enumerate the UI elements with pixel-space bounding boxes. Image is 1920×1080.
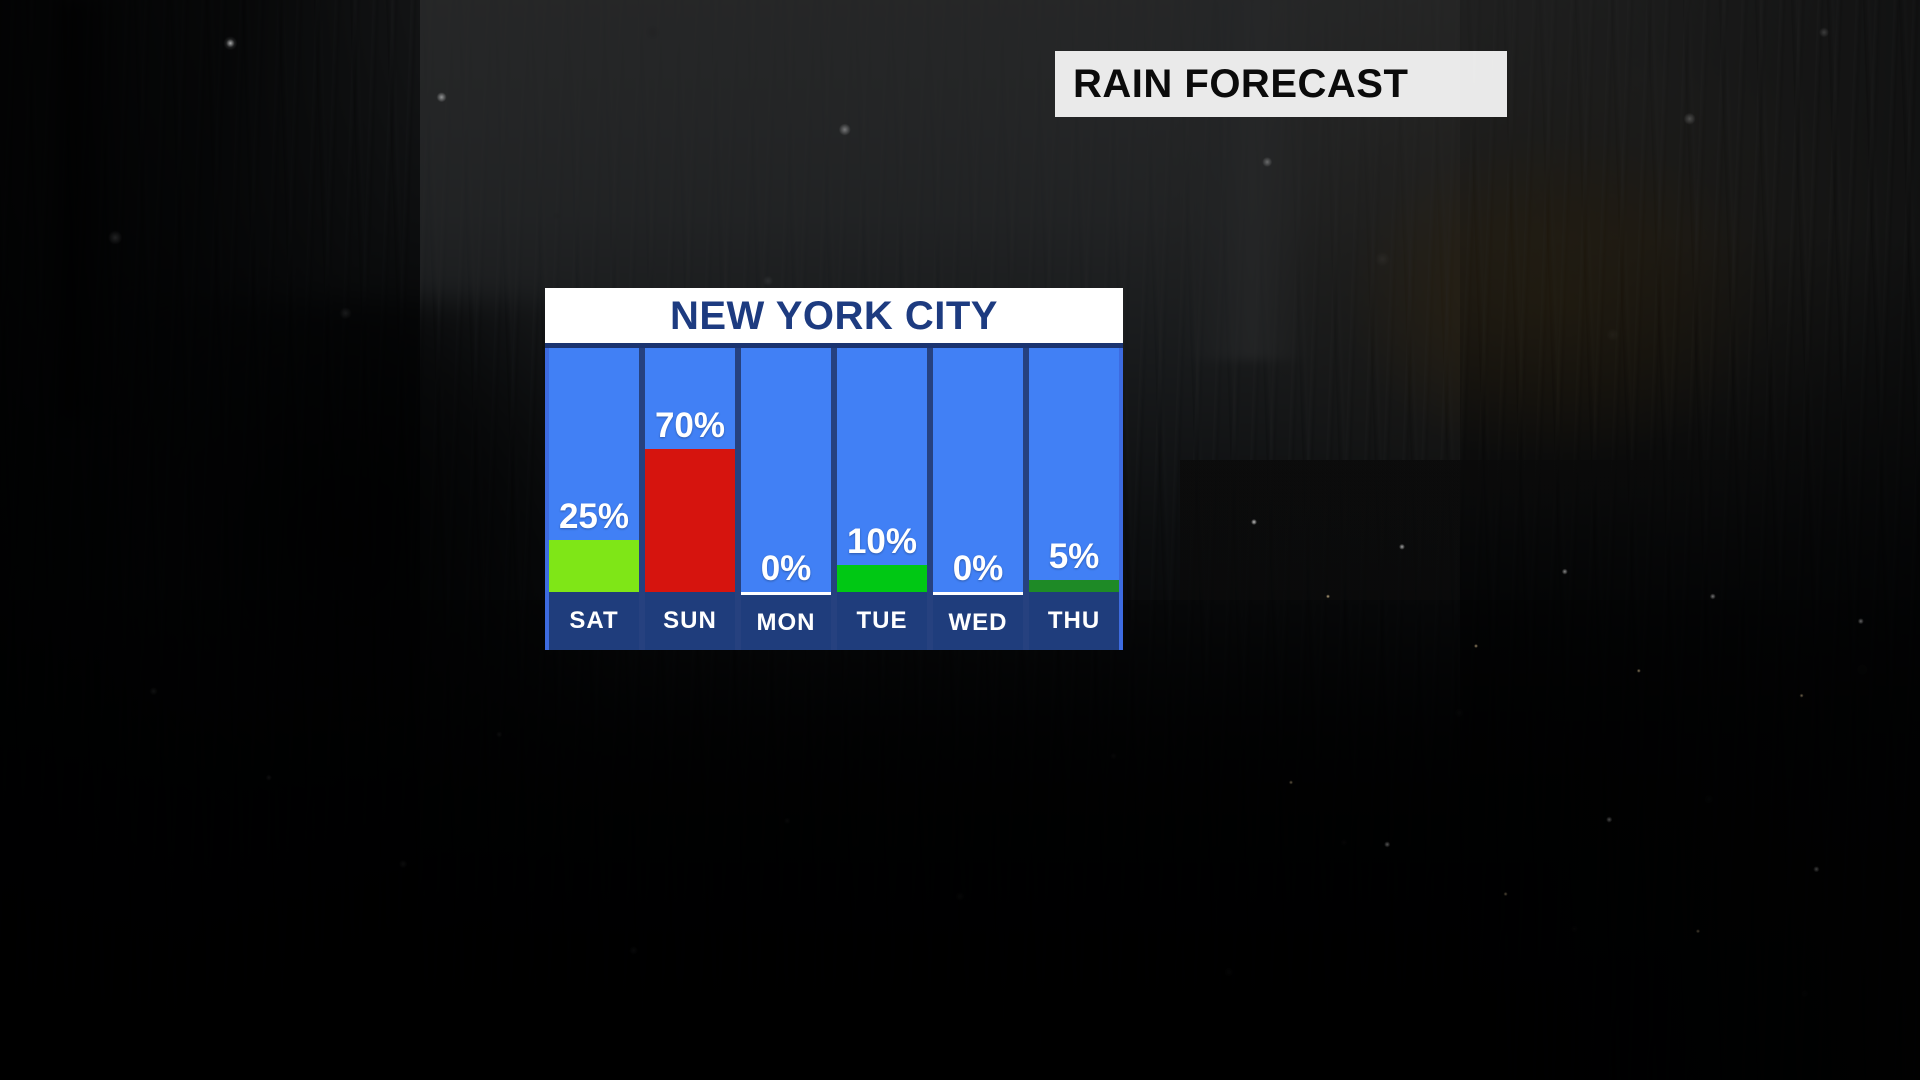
- day-column-mon[interactable]: 0%MON: [738, 348, 834, 650]
- raindrop-texture-highlight: [1180, 460, 1920, 1080]
- day-column-sat[interactable]: 25%SAT: [545, 348, 642, 650]
- day-label-cell: TUE: [837, 592, 927, 650]
- day-label-cell: SAT: [549, 592, 639, 650]
- bar-value-label: 70%: [645, 408, 735, 449]
- day-label: THU: [1048, 609, 1100, 633]
- bar-plot-area: 5%: [1029, 348, 1119, 592]
- day-label-cell: MON: [741, 592, 831, 650]
- bar-value-label: 10%: [837, 524, 927, 565]
- bar-fill: [645, 449, 735, 592]
- bar-plot-area: 0%: [933, 348, 1023, 592]
- day-column-thu[interactable]: 5%THU: [1026, 348, 1123, 650]
- day-label-cell: WED: [933, 592, 1023, 650]
- bar-plot-area: 25%: [549, 348, 639, 592]
- day-label-cell: SUN: [645, 592, 735, 650]
- rain-chance-bar-chart: 25%SAT70%SUN0%MON10%TUE0%WED5%THU: [545, 343, 1123, 650]
- bar-value-label: 0%: [741, 551, 831, 592]
- rain-forecast-banner-title: RAIN FORECAST: [1073, 62, 1408, 107]
- day-column-sun[interactable]: 70%SUN: [642, 348, 738, 650]
- bar-plot-area: 70%: [645, 348, 735, 592]
- bar-value-label: 5%: [1029, 539, 1119, 580]
- rain-forecast-banner: RAIN FORECAST: [1055, 51, 1507, 117]
- day-column-tue[interactable]: 10%TUE: [834, 348, 930, 650]
- bar-value-label: 0%: [933, 551, 1023, 592]
- day-label: WED: [949, 611, 1008, 635]
- bar-fill: [1029, 580, 1119, 592]
- bar-fill: [549, 540, 639, 592]
- bar-plot-area: 10%: [837, 348, 927, 592]
- page-title: NEW YORK CITY: [670, 296, 998, 336]
- day-label: TUE: [857, 609, 908, 633]
- bar-plot-area: 0%: [741, 348, 831, 592]
- weather-graphic: RAIN FORECAST NEW YORK CITY 25%SAT70%SUN…: [0, 0, 1920, 1080]
- forecast-card: NEW YORK CITY 25%SAT70%SUN0%MON10%TUE0%W…: [545, 288, 1123, 650]
- day-label-cell: THU: [1029, 592, 1119, 650]
- day-label: SUN: [663, 609, 717, 633]
- city-title-bar: NEW YORK CITY: [545, 288, 1123, 343]
- bar-value-label: 25%: [549, 499, 639, 540]
- day-label: MON: [757, 611, 816, 635]
- day-column-wed[interactable]: 0%WED: [930, 348, 1026, 650]
- day-label: SAT: [569, 609, 618, 633]
- bar-fill: [837, 565, 927, 592]
